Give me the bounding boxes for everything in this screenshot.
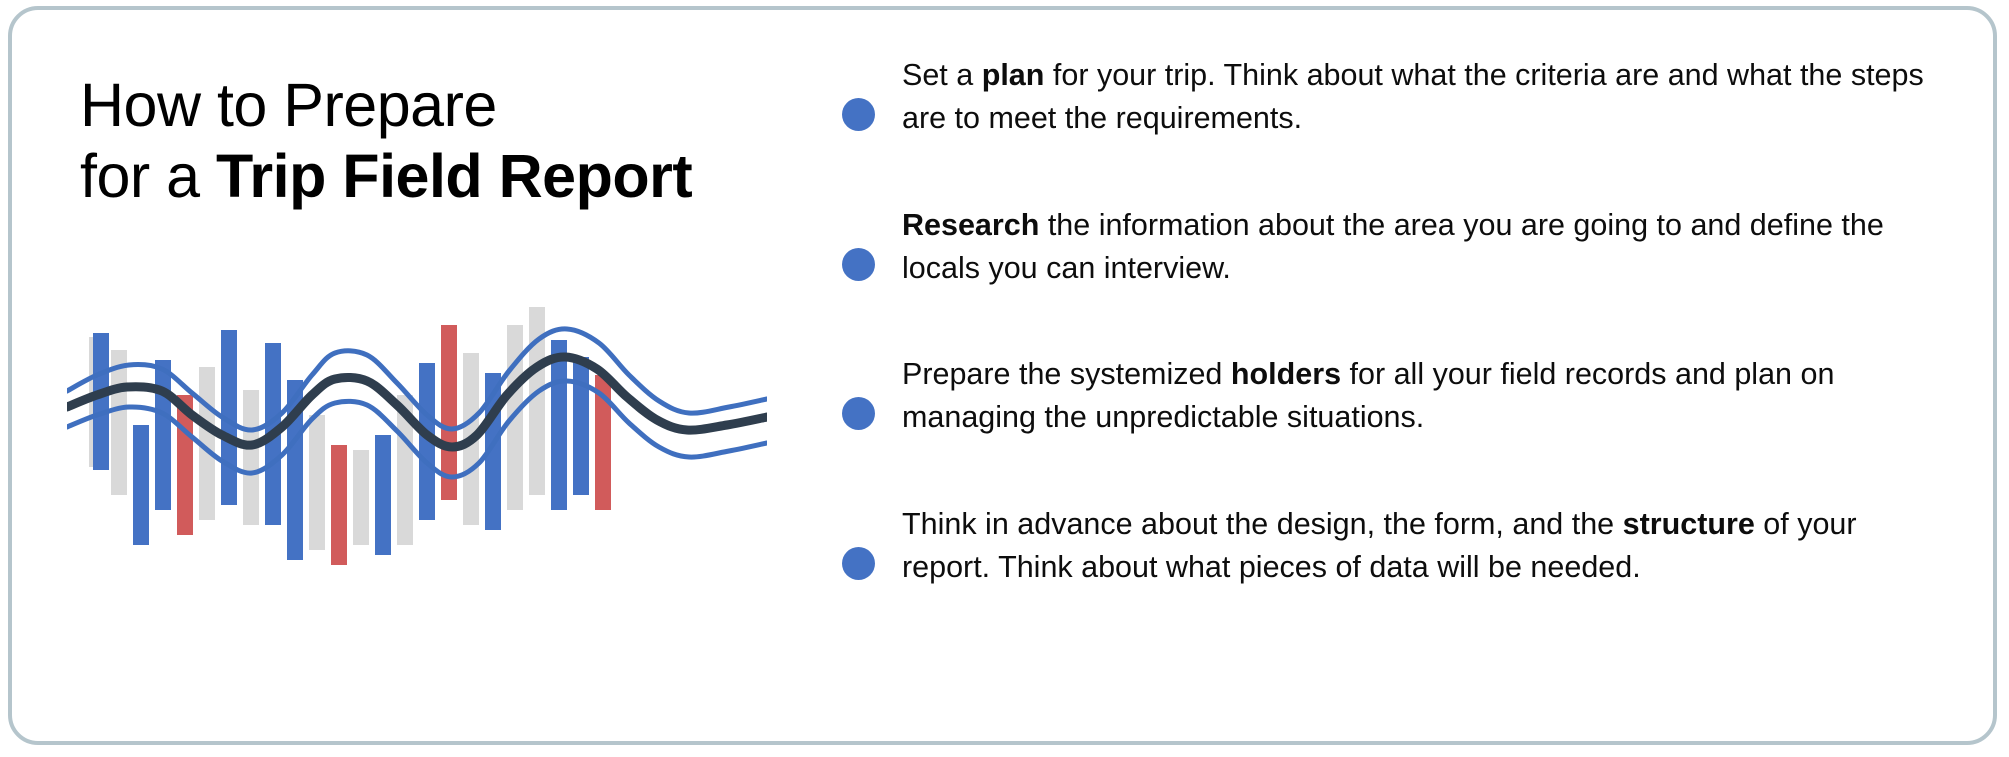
chart-bar [93,333,109,470]
chart-bar [573,357,589,495]
body-text: the information about the area you are g… [902,208,1884,285]
chart-bar [309,415,325,550]
emphasis-term: structure [1623,507,1755,541]
list-item: Set a plan for your trip. Think about wh… [842,54,1932,141]
body-text: for your trip. Think about what the crit… [902,58,1924,135]
chart-trend-lines-group [67,329,767,477]
body-text: Set a [902,58,982,92]
decorative-bar-chart [67,295,767,665]
bullet-dot-icon [842,547,875,580]
info-card: How to Prepare for a Trip Field Report S… [8,6,1997,745]
chart-bar [353,450,369,545]
body-text: Think in advance about the design, the f… [902,507,1623,541]
list-item-text: Research the information about the area … [902,204,1932,291]
emphasis-term: Research [902,208,1039,242]
chart-bar [551,340,567,510]
emphasis-term: holders [1231,357,1341,391]
chart-bar [243,390,259,525]
emphasis-term: plan [982,58,1045,92]
chart-bar [111,350,127,495]
chart-trend-line [67,329,767,430]
title-line-2-plain: for a [80,142,216,210]
bullet-dot-icon [842,98,875,131]
list-item: Prepare the systemized holders for all y… [842,353,1932,440]
chart-bar [133,425,149,545]
bullet-dot-icon [842,248,875,281]
chart-bar [375,435,391,555]
body-text: Prepare the systemized [902,357,1231,391]
chart-bar [155,360,171,510]
bullet-dot-icon [842,397,875,430]
list-item: Think in advance about the design, the f… [842,503,1932,590]
tips-list: Set a plan for your trip. Think about wh… [842,54,1932,589]
list-item-text: Think in advance about the design, the f… [902,503,1932,590]
left-column: How to Prepare for a Trip Field Report [12,10,772,741]
chart-bar [331,445,347,565]
chart-svg [67,295,767,665]
list-item: Research the information about the area … [842,204,1932,291]
title-line-2-bold: Trip Field Report [216,142,692,210]
list-item-text: Prepare the systemized holders for all y… [902,353,1932,440]
title-line-1: How to Prepare [80,71,497,139]
list-item-text: Set a plan for your trip. Think about wh… [902,54,1932,141]
right-column: Set a plan for your trip. Think about wh… [772,10,1993,741]
page-title: How to Prepare for a Trip Field Report [80,70,760,213]
